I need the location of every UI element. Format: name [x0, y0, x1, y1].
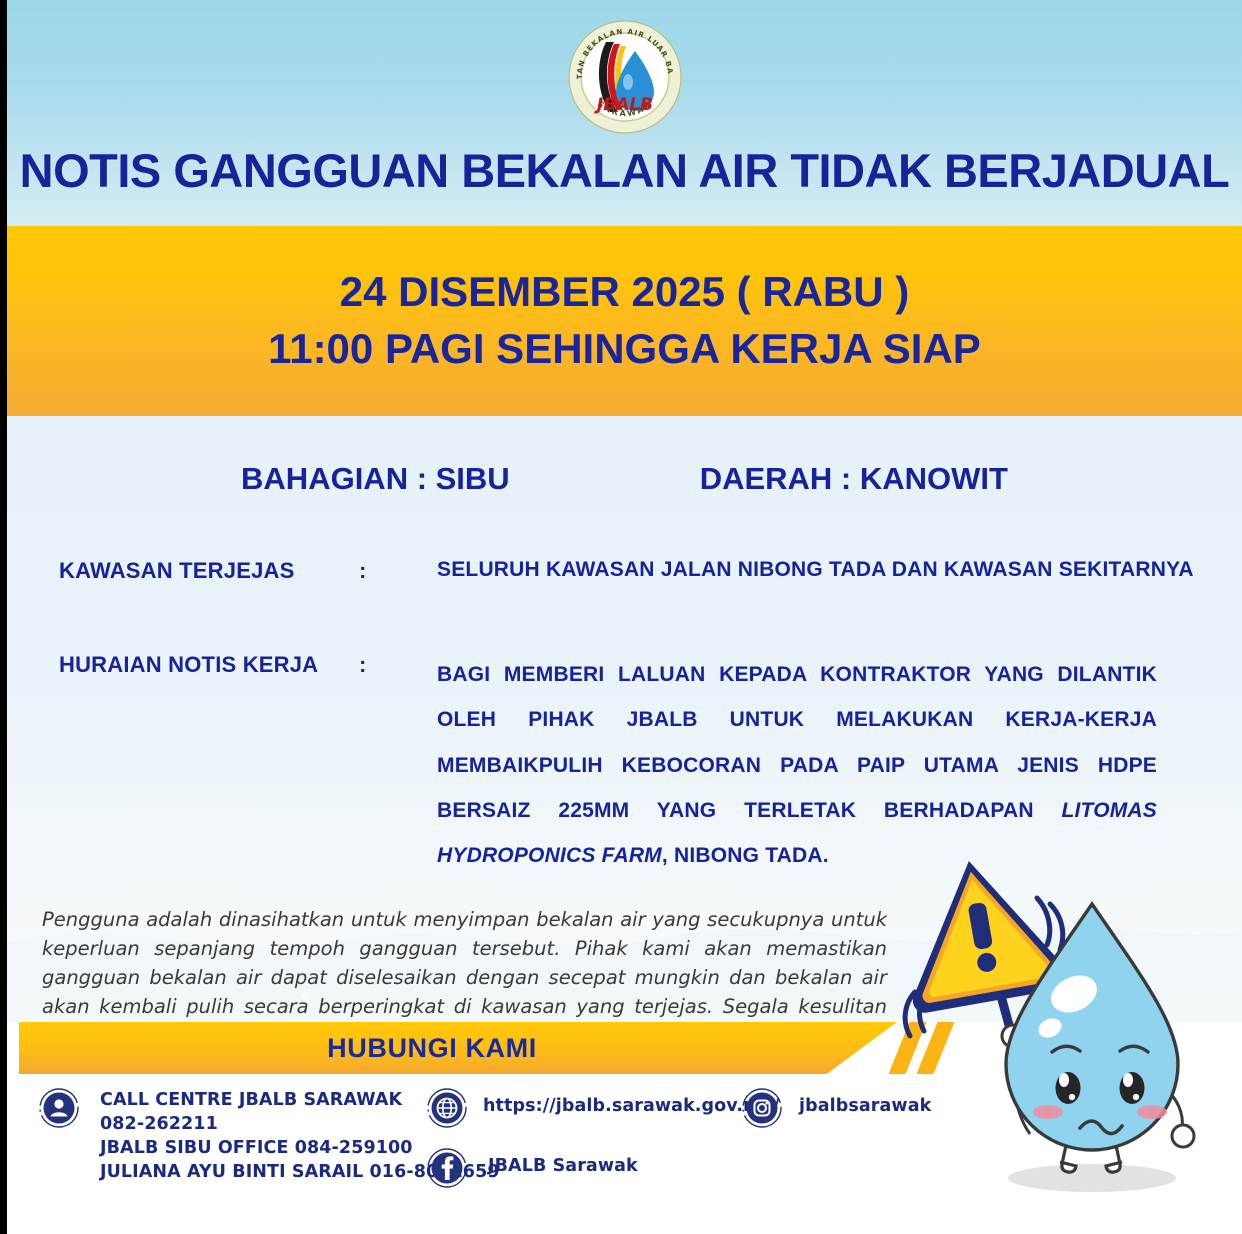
instagram-icon[interactable] — [742, 1088, 782, 1128]
contact-bar-wrap: HUBUNGI KAMI — [7, 1022, 1242, 1074]
body-section: BAHAGIAN : SIBU DAERAH : KANOWIT KAWASAN… — [7, 416, 1242, 1022]
water-disruption-notice-poster: JABATAN BEKALAN AIR LUAR BANDAR SARAWAK … — [0, 0, 1242, 1234]
call-centre-phone[interactable]: 082-262211 — [100, 1114, 218, 1134]
page-title: NOTIS GANGGUAN BEKALAN AIR TIDAK BERJADU… — [7, 143, 1242, 198]
header-band: JABATAN BEKALAN AIR LUAR BANDAR SARAWAK … — [7, 0, 1242, 226]
affected-area-row: KAWASAN TERJEJAS : SELURUH KAWASAN JALAN… — [59, 558, 1194, 584]
affected-area-value: SELURUH KAWASAN JALAN NIBONG TADA DAN KA… — [437, 558, 1194, 582]
date-time-band: 24 DISEMBER 2025 ( RABU ) 11:00 PAGI SEH… — [7, 226, 1242, 416]
work-description-colon: : — [359, 652, 437, 678]
division-label: BAHAGIAN : SIBU — [241, 461, 510, 497]
facebook-icon[interactable] — [427, 1148, 467, 1188]
contact-bar-title: HUBUNGI KAMI — [7, 1022, 857, 1074]
district-label: DAERAH : KANOWIT — [700, 461, 1008, 497]
affected-area-colon: : — [359, 558, 437, 584]
work-text-part2: , NIBONG TADA. — [662, 844, 829, 867]
website-url[interactable]: https://jbalb.sarawak.gov.my/ — [483, 1096, 779, 1116]
region-row: BAHAGIAN : SIBU DAERAH : KANOWIT — [7, 461, 1242, 497]
facebook-handle[interactable]: JBALB Sarawak — [488, 1156, 638, 1176]
jbalb-logo: JABATAN BEKALAN AIR LUAR BANDAR SARAWAK … — [566, 18, 684, 136]
advisory-note: Pengguna adalah dinasihatkan untuk menyi… — [42, 906, 887, 1022]
sibu-office-phone[interactable]: JBALB SIBU OFFICE 084-259100 — [100, 1138, 413, 1158]
disruption-time: 11:00 PAGI SEHINGGA KERJA SIAP — [268, 321, 981, 378]
work-description-label: HURAIAN NOTIS KERJA — [59, 652, 359, 678]
work-description-row: HURAIAN NOTIS KERJA : BAGI MEMBERI LALUA… — [59, 652, 1157, 879]
affected-area-label: KAWASAN TERJEJAS — [59, 558, 359, 584]
person-icon — [39, 1088, 79, 1128]
contact-details: CALL CENTRE JBALB SARAWAK 082-262211 JBA… — [7, 1074, 1242, 1234]
instagram-handle[interactable]: jbalbsarawak — [799, 1096, 931, 1116]
svg-text:JBALB: JBALB — [593, 95, 652, 115]
globe-icon — [427, 1088, 467, 1128]
call-centre-name: CALL CENTRE JBALB SARAWAK — [100, 1090, 402, 1110]
work-text-part1: BAGI MEMBERI LALUAN KEPADA KONTRAKTOR YA… — [437, 663, 1157, 822]
disruption-date: 24 DISEMBER 2025 ( RABU ) — [340, 264, 909, 321]
work-description-value: BAGI MEMBERI LALUAN KEPADA KONTRAKTOR YA… — [437, 652, 1157, 879]
jbalb-logo-icon: JABATAN BEKALAN AIR LUAR BANDAR SARAWAK … — [566, 18, 684, 136]
